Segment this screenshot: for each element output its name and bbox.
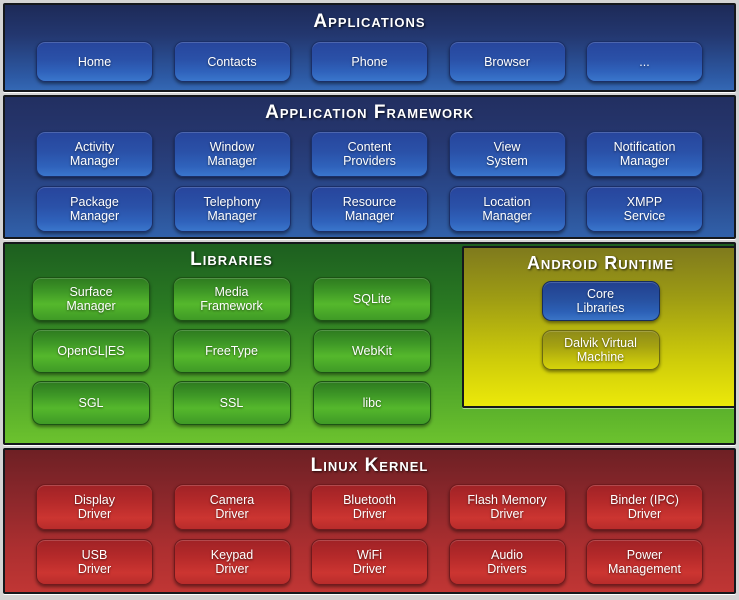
layer-application-framework: Application Framework Activity Manager W…: [3, 95, 736, 239]
block-package-manager[interactable]: Package Manager: [36, 186, 153, 232]
layer-title-libraries: Libraries: [5, 244, 458, 269]
kernel-row-1: Display Driver Camera Driver Bluetooth D…: [5, 475, 734, 530]
block-contacts[interactable]: Contacts: [174, 41, 291, 82]
block-keypad-driver[interactable]: Keypad Driver: [174, 539, 291, 585]
block-bluetooth-driver[interactable]: Bluetooth Driver: [311, 484, 428, 530]
block-content-providers[interactable]: Content Providers: [311, 131, 428, 177]
applications-row-1: Home Contacts Phone Browser ...: [5, 31, 734, 82]
block-camera-driver[interactable]: Camera Driver: [174, 484, 291, 530]
layer-title-android-runtime: Android Runtime: [464, 248, 736, 272]
block-activity-manager[interactable]: Activity Manager: [36, 131, 153, 177]
block-phone[interactable]: Phone: [311, 41, 428, 82]
block-more[interactable]: ...: [586, 41, 703, 82]
libraries-row-3: SGL SSL libc: [5, 373, 458, 425]
libraries-row-1: Surface Manager Media Framework SQLite: [5, 269, 458, 321]
block-freetype[interactable]: FreeType: [173, 329, 291, 373]
layer-title-applications: Applications: [5, 5, 734, 31]
block-browser[interactable]: Browser: [449, 41, 566, 82]
block-xmpp-service[interactable]: XMPP Service: [586, 186, 703, 232]
block-libc[interactable]: libc: [313, 381, 431, 425]
block-binder-ipc-driver[interactable]: Binder (IPC) Driver: [586, 484, 703, 530]
block-notification-manager[interactable]: Notification Manager: [586, 131, 703, 177]
layer-libraries: Libraries Surface Manager Media Framewor…: [5, 244, 458, 443]
block-core-libraries[interactable]: Core Libraries: [542, 281, 660, 321]
block-dalvik-virtual-machine[interactable]: Dalvik Virtual Machine: [542, 330, 660, 370]
block-webkit[interactable]: WebKit: [313, 329, 431, 373]
block-media-framework[interactable]: Media Framework: [173, 277, 291, 321]
block-view-system[interactable]: View System: [449, 131, 566, 177]
block-audio-drivers[interactable]: Audio Drivers: [449, 539, 566, 585]
layer-libraries-and-runtime: Libraries Surface Manager Media Framewor…: [3, 242, 736, 445]
block-resource-manager[interactable]: Resource Manager: [311, 186, 428, 232]
block-telephony-manager[interactable]: Telephony Manager: [174, 186, 291, 232]
block-opengl-es[interactable]: OpenGL|ES: [32, 329, 150, 373]
kernel-row-2: USB Driver Keypad Driver WiFi Driver Aud…: [5, 530, 734, 585]
runtime-blocks: Core Libraries Dalvik Virtual Machine: [464, 272, 736, 370]
block-home[interactable]: Home: [36, 41, 153, 82]
layer-android-runtime: Android Runtime Core Libraries Dalvik Vi…: [462, 246, 736, 408]
layer-title-application-framework: Application Framework: [5, 97, 734, 122]
layer-applications: Applications Home Contacts Phone Browser…: [3, 3, 736, 92]
layer-linux-kernel: Linux Kernel Display Driver Camera Drive…: [3, 448, 736, 594]
framework-row-2: Package Manager Telephony Manager Resour…: [5, 177, 734, 232]
block-wifi-driver[interactable]: WiFi Driver: [311, 539, 428, 585]
libraries-row-2: OpenGL|ES FreeType WebKit: [5, 321, 458, 373]
block-ssl[interactable]: SSL: [173, 381, 291, 425]
framework-row-1: Activity Manager Window Manager Content …: [5, 122, 734, 177]
block-power-management[interactable]: Power Management: [586, 539, 703, 585]
block-sgl[interactable]: SGL: [32, 381, 150, 425]
block-flash-memory-driver[interactable]: Flash Memory Driver: [449, 484, 566, 530]
layer-title-linux-kernel: Linux Kernel: [5, 450, 734, 475]
block-usb-driver[interactable]: USB Driver: [36, 539, 153, 585]
block-display-driver[interactable]: Display Driver: [36, 484, 153, 530]
block-surface-manager[interactable]: Surface Manager: [32, 277, 150, 321]
android-architecture-diagram: Applications Home Contacts Phone Browser…: [0, 0, 739, 600]
block-window-manager[interactable]: Window Manager: [174, 131, 291, 177]
block-location-manager[interactable]: Location Manager: [449, 186, 566, 232]
block-sqlite[interactable]: SQLite: [313, 277, 431, 321]
